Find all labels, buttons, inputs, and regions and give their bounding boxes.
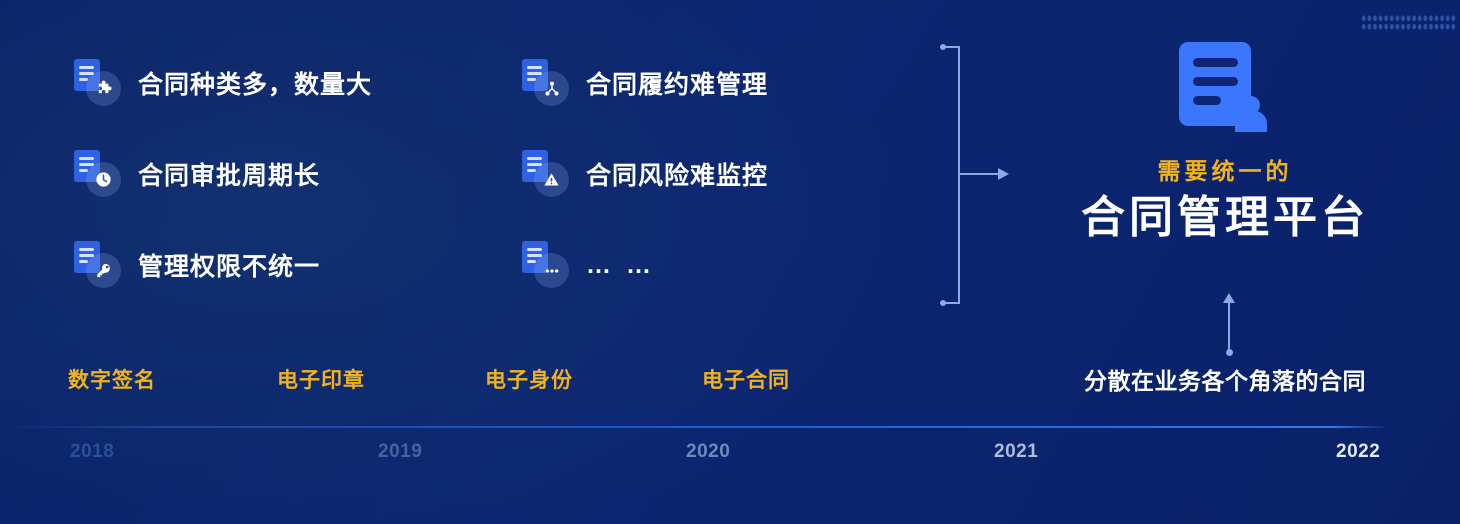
slide-canvas: 合同种类多，数量大 合同审批周期长 管理权限不统一 <box>0 0 1460 524</box>
timeline-year: 2019 <box>378 441 422 463</box>
list-item-label: 合同风险难监控 <box>586 156 768 192</box>
bracket-arrow-right <box>938 40 1013 310</box>
list-item-label: 管理权限不统一 <box>138 247 320 283</box>
timeline-axis <box>0 426 1389 428</box>
dot-grid-pattern-icon <box>1361 14 1457 32</box>
list-item[interactable]: 合同种类多，数量大 <box>72 58 372 108</box>
timeline-year: 2021 <box>994 441 1038 463</box>
person-silhouette-icon <box>1227 90 1275 138</box>
timeline-year: 2020 <box>686 441 730 463</box>
document-puzzle-icon <box>72 58 122 108</box>
list-item-label: … … <box>586 251 655 280</box>
arrow-up-icon <box>1222 293 1236 355</box>
timeline-tag[interactable]: 数字签名 <box>68 364 156 394</box>
timeline-tag[interactable]: 电子合同 <box>702 364 790 394</box>
document-clock-icon <box>72 149 122 199</box>
problem-list: 合同种类多，数量大 合同审批周期长 管理权限不统一 <box>0 0 930 320</box>
document-ellipsis-icon <box>520 240 570 290</box>
list-item[interactable]: 合同审批周期长 <box>72 149 320 199</box>
contract-person-icon <box>1175 42 1275 138</box>
hero-subtitle: 需要统一的 <box>1055 152 1395 186</box>
document-warning-icon <box>520 149 570 199</box>
timeline-tags: 数字签名 电子印章 电子身份 电子合同 <box>0 364 1460 398</box>
list-item[interactable]: 管理权限不统一 <box>72 240 320 290</box>
list-item[interactable]: … … <box>520 240 655 290</box>
list-item-label: 合同履约难管理 <box>586 65 768 101</box>
timeline-tag[interactable]: 电子印章 <box>277 364 365 394</box>
hero-title: 合同管理平台 <box>1055 194 1395 242</box>
document-network-icon <box>520 58 570 108</box>
timeline-year: 2018 <box>70 441 114 463</box>
hero-block: 需要统一的 合同管理平台 <box>1055 42 1395 242</box>
list-item[interactable]: 合同履约难管理 <box>520 58 768 108</box>
document-key-icon <box>72 240 122 290</box>
list-item-label: 合同审批周期长 <box>138 156 320 192</box>
timeline-year: 2022 <box>1336 441 1380 463</box>
list-item[interactable]: 合同风险难监控 <box>520 149 768 199</box>
timeline-tag[interactable]: 电子身份 <box>485 364 573 394</box>
list-item-label: 合同种类多，数量大 <box>138 65 372 101</box>
